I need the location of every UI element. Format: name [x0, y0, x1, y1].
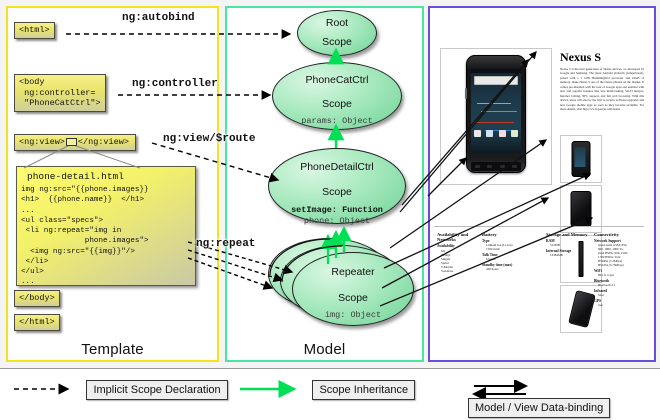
spec-column-connectivity: Connectivity Network Support Quad-band G…	[594, 232, 646, 307]
scope-phonecatctrl-prop-params: params: Object	[273, 116, 401, 127]
legend-label: Scope Inheritance	[312, 380, 415, 400]
scope-phonecatctrl-line1: PhoneCatCtrl	[273, 63, 401, 87]
legend-item-model-view-data-binding: Model / View Data-binding	[468, 380, 660, 402]
spec-heading-availability: Availability and Networks	[437, 232, 479, 243]
column-label-template: Template	[8, 341, 217, 358]
legend-dashed-arrow-icon	[12, 380, 78, 398]
scope-repeater-line2: Scope	[293, 279, 413, 305]
phone-wallpaper-line-3	[474, 122, 514, 123]
column-label-model: Model	[227, 341, 422, 358]
phone-hero-image	[466, 55, 526, 173]
label-ng-view-route: ng:view/$route	[163, 133, 255, 145]
view-rendered-page: Nexus S Nexus S is the next generation o…	[432, 10, 648, 354]
spec-value: HSUPA (5.76Mbps)	[594, 263, 646, 267]
scope-root-line2: Scope	[298, 30, 376, 49]
code-tag-ngview: <ng:view></ng:view>	[14, 134, 136, 151]
ngview-placeholder-icon	[66, 138, 77, 146]
spec-value: 6 hours	[482, 257, 542, 261]
page-title: Nexus S	[560, 50, 601, 65]
spec-value: 16384MB	[546, 253, 598, 257]
code-tag-body-end: </body>	[14, 290, 60, 307]
note-code: img ng:src="{{phone.images}} <h1> {{phon…	[17, 185, 195, 288]
app-icon-2	[486, 130, 493, 137]
phone-wallpaper-line-1	[477, 103, 511, 104]
code-tag-html-end: </html>	[14, 314, 60, 331]
scope-repeater-prop-img: img: Object	[293, 310, 413, 321]
phone-hero-image-frame	[440, 48, 552, 185]
code-tag-html: <html>	[14, 22, 55, 39]
thumbnail-phone-front[interactable]	[560, 135, 602, 183]
legend-label: Implicit Scope Declaration	[86, 380, 227, 400]
spec-value: 512MB	[546, 243, 598, 247]
scope-phonedetailctrl: PhoneDetailCtrl Scope setImage: Function…	[268, 148, 406, 224]
spec-value: true	[594, 303, 646, 307]
legend-label: Model / View Data-binding	[468, 398, 610, 418]
spec-heading-connectivity: Connectivity	[594, 232, 646, 237]
code-tag-body: <body ng:controller= "PhoneCatCtrl">	[14, 74, 106, 112]
template-note-phone-detail: phone-detail.html img ng:src="{{phone.im…	[16, 166, 196, 286]
spec-heading-battery: Battery	[482, 232, 542, 237]
app-icon-4	[511, 130, 518, 137]
phone-statusbar	[471, 69, 521, 73]
ngview-open: <ng:view>	[19, 137, 65, 147]
scope-repeater-line1: Repeater	[293, 253, 413, 279]
label-ng-autobind: ng:autobind	[122, 12, 195, 24]
legend-double-arrow-icon	[468, 380, 534, 398]
scope-phonedetailctrl-line1: PhoneDetailCtrl	[269, 149, 405, 174]
phone-wallpaper-line-2	[481, 111, 517, 112]
scope-root-line1: Root	[298, 11, 376, 30]
page-description: Nexus S is the next generation of Nexus …	[560, 67, 644, 112]
scope-repeater: Repeater Scope img: Object	[292, 252, 414, 326]
scope-phonecatctrl-line2: Scope	[273, 87, 401, 111]
spec-value: 1500 mAh	[482, 247, 542, 251]
spec-value: Vodafone	[437, 269, 479, 273]
legend-item-implicit-scope-declaration: Implicit Scope Declaration	[12, 380, 228, 402]
phone-app-dock	[471, 127, 521, 139]
spec-column-battery: Battery Type Lithium Ion (Li-Ion) 1500 m…	[482, 232, 542, 271]
app-icon-1	[474, 130, 481, 137]
scope-root: Root Scope	[297, 10, 377, 56]
spec-value: Bluetooth 2.1	[594, 283, 646, 287]
legend-green-arrow-icon	[238, 380, 304, 398]
app-icon-3	[499, 130, 506, 137]
specs-divider	[434, 226, 644, 227]
phone-screen	[471, 69, 521, 153]
scope-phonedetailctrl-line2: Scope	[269, 174, 405, 199]
phone-searchbar	[474, 76, 518, 85]
scope-phonecatctrl: PhoneCatCtrl Scope params: Object	[272, 62, 402, 130]
scope-phonedetailctrl-prop-setimage: setImage: Function	[269, 205, 405, 216]
phone-volume-button-icon	[465, 88, 467, 99]
phone-navigation-buttons	[471, 162, 521, 171]
legend: Implicit Scope Declaration Scope Inherit…	[0, 368, 660, 420]
spec-column-availability: Availability and Networks Availability M…	[437, 232, 479, 273]
label-ng-repeat: ng:repeat	[196, 238, 255, 250]
spec-value: false	[594, 293, 646, 297]
legend-divider	[0, 368, 660, 369]
specs-table: Availability and Networks Availability M…	[434, 232, 646, 342]
spec-column-storage: Storage and Memory RAM 512MB Internal St…	[546, 232, 598, 257]
spec-value: 802.11 b/g/n	[594, 273, 646, 277]
legend-item-scope-inheritance: Scope Inheritance	[238, 380, 415, 402]
note-title: phone-detail.html	[17, 167, 195, 185]
ngview-close: </ng:view>	[78, 137, 129, 147]
label-ng-controller: ng:controller	[132, 78, 218, 90]
scope-phonedetailctrl-prop-phone: phone: Object	[269, 216, 405, 227]
spec-heading-storage: Storage and Memory	[546, 232, 598, 237]
diagram-canvas: Template Model View <html> <body ng:cont…	[0, 0, 660, 420]
spec-value: 428 hours	[482, 267, 542, 271]
